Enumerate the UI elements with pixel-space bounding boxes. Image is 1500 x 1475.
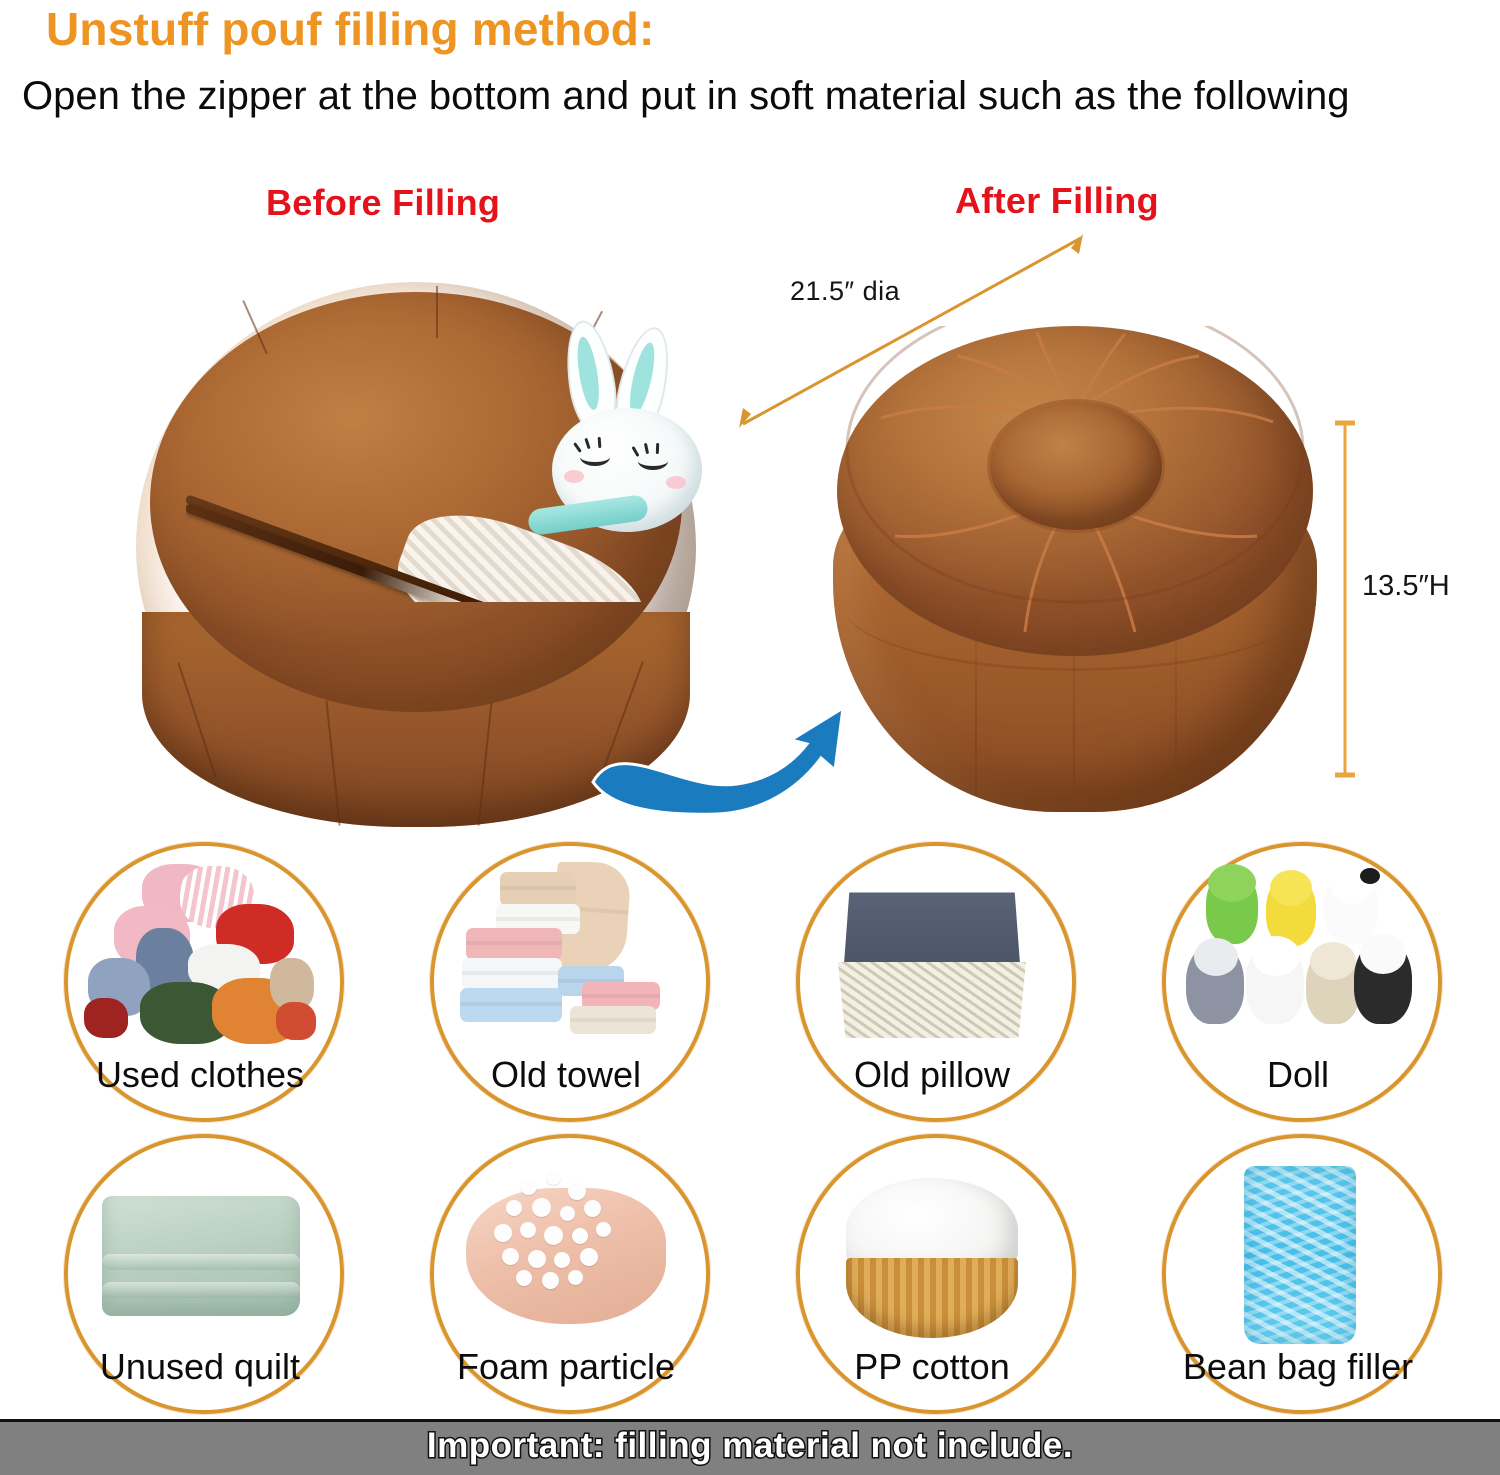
material-label: Foam particle xyxy=(416,1346,716,1388)
quilt-body xyxy=(102,1196,300,1316)
before-filling-label: Before Filling xyxy=(266,182,500,224)
material-card-old-pillow[interactable]: Old pillow xyxy=(782,836,1082,1126)
hand-holding-foam-beads-icon xyxy=(450,1154,682,1354)
material-card-pp-cotton[interactable]: PP cotton xyxy=(782,1128,1082,1418)
material-label: Used clothes xyxy=(50,1054,350,1096)
material-card-foam-particle[interactable]: Foam particle xyxy=(416,1128,716,1418)
pillow-textured-panel xyxy=(838,962,1026,1038)
seam xyxy=(436,286,438,338)
pillow-upper-panel xyxy=(844,888,1020,964)
material-label: Old towel xyxy=(416,1054,716,1096)
plush-animal-dolls-icon xyxy=(1182,862,1414,1062)
basket-of-pp-cotton-fiber-icon xyxy=(816,1154,1048,1354)
pile-of-used-clothes-icon xyxy=(84,862,316,1062)
footer-notice-banner: Important: filling material not include. xyxy=(0,1419,1500,1475)
material-card-doll[interactable]: Doll xyxy=(1148,836,1448,1126)
after-filling-pouf-image xyxy=(815,320,1335,820)
material-label: Doll xyxy=(1148,1054,1448,1096)
bunny-eye-right xyxy=(638,452,668,470)
transform-arrow-icon xyxy=(585,700,855,835)
material-label: Bean bag filler xyxy=(1148,1346,1448,1388)
bag-of-blue-bean-bag-filler-icon xyxy=(1182,1154,1414,1354)
filling-materials-grid: Used clothes Old towel xyxy=(50,836,1470,1416)
height-dimension-label: 13.5″H xyxy=(1362,570,1450,603)
infographic-canvas: Unstuff pouf filling method: Open the zi… xyxy=(0,0,1500,1472)
material-label: Unused quilt xyxy=(50,1346,350,1388)
material-card-bean-bag-filler[interactable]: Bean bag filler xyxy=(1148,1128,1448,1418)
instruction-text: Open the zipper at the bottom and put in… xyxy=(22,72,1452,121)
bunny-plush-toy-icon xyxy=(546,320,731,530)
pouf-rim-seam xyxy=(843,538,1307,671)
footer-notice-text: Important: filling material not include. xyxy=(0,1426,1500,1466)
material-label: PP cotton xyxy=(782,1346,1082,1388)
filler-bag xyxy=(1244,1166,1356,1344)
page-title: Unstuff pouf filling method: xyxy=(46,2,655,56)
bunny-eye-left xyxy=(580,448,610,466)
bunny-cheek-right xyxy=(666,476,686,489)
stacked-folded-towels-icon xyxy=(450,862,682,1062)
after-filling-label: After Filling xyxy=(955,180,1159,222)
bunny-cheek-left xyxy=(564,470,584,483)
material-card-old-towel[interactable]: Old towel xyxy=(416,836,716,1126)
material-card-unused-quilt[interactable]: Unused quilt xyxy=(50,1128,350,1418)
pouf-center-button xyxy=(990,402,1162,530)
material-card-used-clothes[interactable]: Used clothes xyxy=(50,836,350,1126)
material-label: Old pillow xyxy=(782,1054,1082,1096)
woven-basket xyxy=(846,1258,1018,1338)
decorative-throw-pillow-icon xyxy=(816,862,1048,1062)
folded-green-quilt-icon xyxy=(84,1154,316,1354)
